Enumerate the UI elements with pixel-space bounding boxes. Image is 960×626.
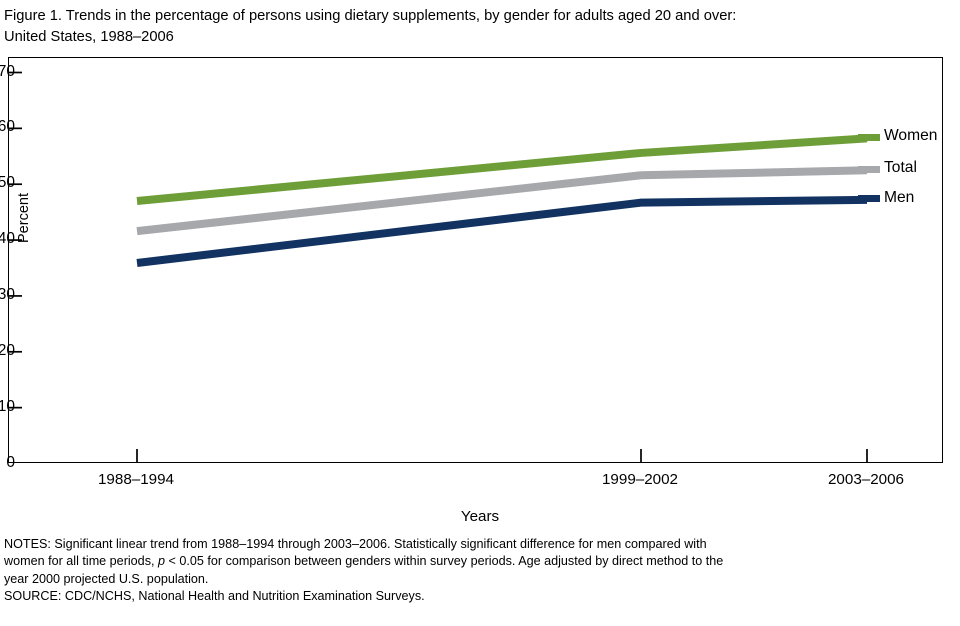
y-tick-label: 50 — [0, 175, 15, 191]
notes-block: NOTES: Significant linear trend from 198… — [4, 536, 794, 588]
x-tick-label: 2003–2006 — [806, 472, 926, 488]
notes-line-2-part-b: < 0.05 for comparison between genders wi… — [165, 554, 723, 568]
plot-area — [9, 58, 942, 462]
notes-line-1: NOTES: Significant linear trend from 198… — [4, 536, 794, 553]
y-tick-label: 0 — [0, 455, 15, 471]
chart-plot-frame — [8, 57, 943, 463]
notes-p-value-symbol: p — [158, 554, 165, 568]
x-axis-title: Years — [0, 508, 960, 525]
legend-label-men: Men — [884, 190, 914, 206]
x-tick-label: 1999–2002 — [580, 472, 700, 488]
legend-swatch-men — [858, 195, 880, 202]
notes-line-2: women for all time periods, p < 0.05 for… — [4, 553, 794, 570]
figure-page: Figure 1. Trends in the percentage of pe… — [0, 0, 960, 626]
source-line: SOURCE: CDC/NCHS, National Health and Nu… — [4, 588, 804, 605]
y-axis-title: Percent — [16, 223, 32, 243]
legend-label-women: Women — [884, 128, 937, 144]
series-line-men — [137, 200, 867, 263]
x-tick-label: 1988–1994 — [76, 472, 196, 488]
page-title: Figure 1. Trends in the percentage of pe… — [4, 6, 950, 47]
series-lines-group — [137, 138, 867, 263]
legend-swatch-total — [858, 166, 880, 173]
legend-label-total: Total — [884, 160, 917, 176]
y-tick-label: 10 — [0, 399, 15, 415]
y-tick-label: 20 — [0, 343, 15, 359]
legend-swatch-women — [858, 134, 880, 141]
line-chart-svg — [9, 58, 942, 462]
y-tick-label: 30 — [0, 287, 15, 303]
y-tick-label: 60 — [0, 119, 15, 135]
y-tick-label: 70 — [0, 64, 15, 80]
x-axis-tick-marks — [137, 449, 867, 462]
notes-line-2-part-a: women for all time periods, — [4, 554, 158, 568]
y-tick-label: 40 — [0, 231, 15, 247]
notes-line-3: year 2000 projected U.S. population. — [4, 571, 794, 588]
